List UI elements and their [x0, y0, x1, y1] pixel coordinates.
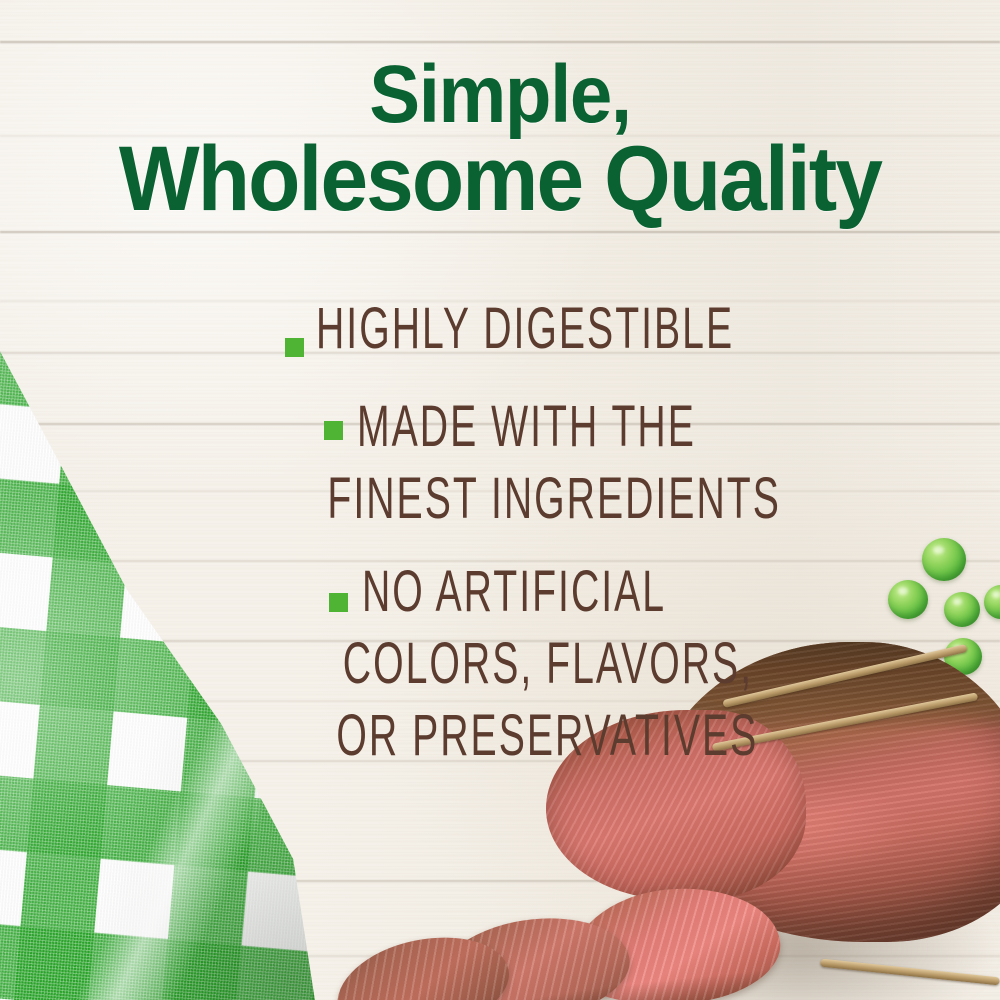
green-square-bullet-icon	[324, 421, 343, 440]
list-item-line: Made with the	[357, 392, 679, 464]
headline: Simple, Wholesome Quality	[35, 56, 965, 223]
list-item-line: Colors, Flavors,	[343, 629, 681, 701]
list-item-line: or Preservatives	[336, 701, 680, 773]
green-square-bullet-icon	[329, 593, 348, 612]
list-item: No Artificial Colors, Flavors, or Preser…	[0, 575, 760, 754]
list-item-line: Highly Digestible	[316, 294, 671, 366]
green-square-bullet-icon	[285, 338, 304, 357]
list-item-text: Made with the Finest Ingredients	[357, 392, 679, 535]
list-item: Highly Digestible	[0, 300, 760, 360]
list-item-line: Finest Ingredients	[327, 464, 679, 536]
headline-line-2: Wholesome Quality	[35, 135, 965, 223]
list-item-text: Highly Digestible	[316, 294, 671, 366]
list-item-line: No Artificial	[362, 557, 680, 629]
list-item: Made with the Finest Ingredients	[0, 404, 760, 524]
promo-banner: Simple, Wholesome Quality Highly Digesti…	[0, 0, 1000, 1000]
green-pea	[922, 538, 966, 581]
feature-bullet-list: Highly Digestible Made with the Finest I…	[0, 300, 760, 783]
list-item-text: No Artificial Colors, Flavors, or Preser…	[362, 557, 680, 772]
headline-line-1: Simple,	[35, 56, 965, 135]
